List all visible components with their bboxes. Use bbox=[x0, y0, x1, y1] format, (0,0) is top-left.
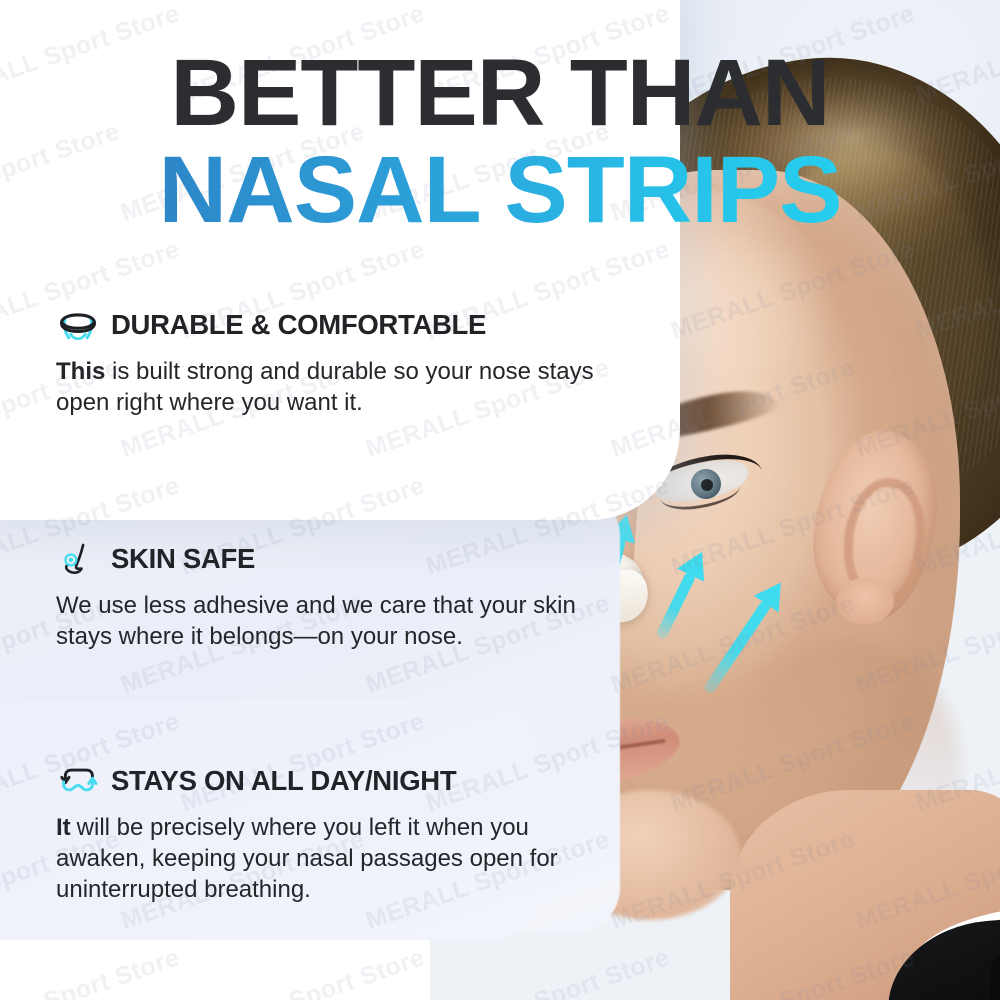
feature-body-lead: It bbox=[56, 814, 71, 841]
ear-lobe bbox=[836, 578, 894, 624]
feature-item-skin-safe: SKIN SAFE We use less adhesive and we ca… bbox=[56, 540, 616, 652]
nasal-dilator-icon bbox=[56, 306, 100, 344]
watermark-text: MERALL Sport Store bbox=[0, 943, 184, 1000]
all-day-cycle-icon bbox=[56, 762, 100, 800]
feature-title: DURABLE & COMFORTABLE bbox=[111, 309, 486, 341]
feature-body-lead: This bbox=[56, 358, 105, 385]
headline-line-1: BETTER THAN bbox=[0, 48, 1000, 139]
feature-heading: SKIN SAFE bbox=[56, 540, 616, 578]
feature-body: This is built strong and durable so your… bbox=[56, 356, 616, 418]
feature-body-rest: is built strong and durable so your nose… bbox=[56, 358, 594, 416]
feature-body: Itwill be precisely where you left it wh… bbox=[56, 812, 616, 906]
headline-line-2: NASAL STRIPS bbox=[0, 143, 1000, 238]
feature-body-rest: will be precisely where you left it when… bbox=[56, 814, 558, 903]
headline: BETTER THAN NASAL STRIPS bbox=[0, 48, 1000, 238]
feature-item-durable: DURABLE & COMFORTABLE This is built stro… bbox=[56, 306, 616, 418]
feature-heading: DURABLE & COMFORTABLE bbox=[56, 306, 616, 344]
promo-image: MERALL Sport StoreMERALL Sport StoreMERA… bbox=[0, 0, 1000, 1000]
watermark-text: MERALL Sport Store bbox=[177, 943, 428, 1000]
feature-body-rest: We use less adhesive and we care that yo… bbox=[56, 592, 576, 650]
feature-body: We use less adhesive and we care that yo… bbox=[56, 590, 616, 652]
feature-title: STAYS ON ALL DAY/NIGHT bbox=[111, 765, 456, 797]
feature-title: SKIN SAFE bbox=[111, 543, 255, 575]
feature-heading: STAYS ON ALL DAY/NIGHT bbox=[56, 762, 616, 800]
feature-item-stays-on: STAYS ON ALL DAY/NIGHT Itwill be precise… bbox=[56, 762, 616, 906]
nose-profile-skin-icon bbox=[56, 540, 100, 578]
